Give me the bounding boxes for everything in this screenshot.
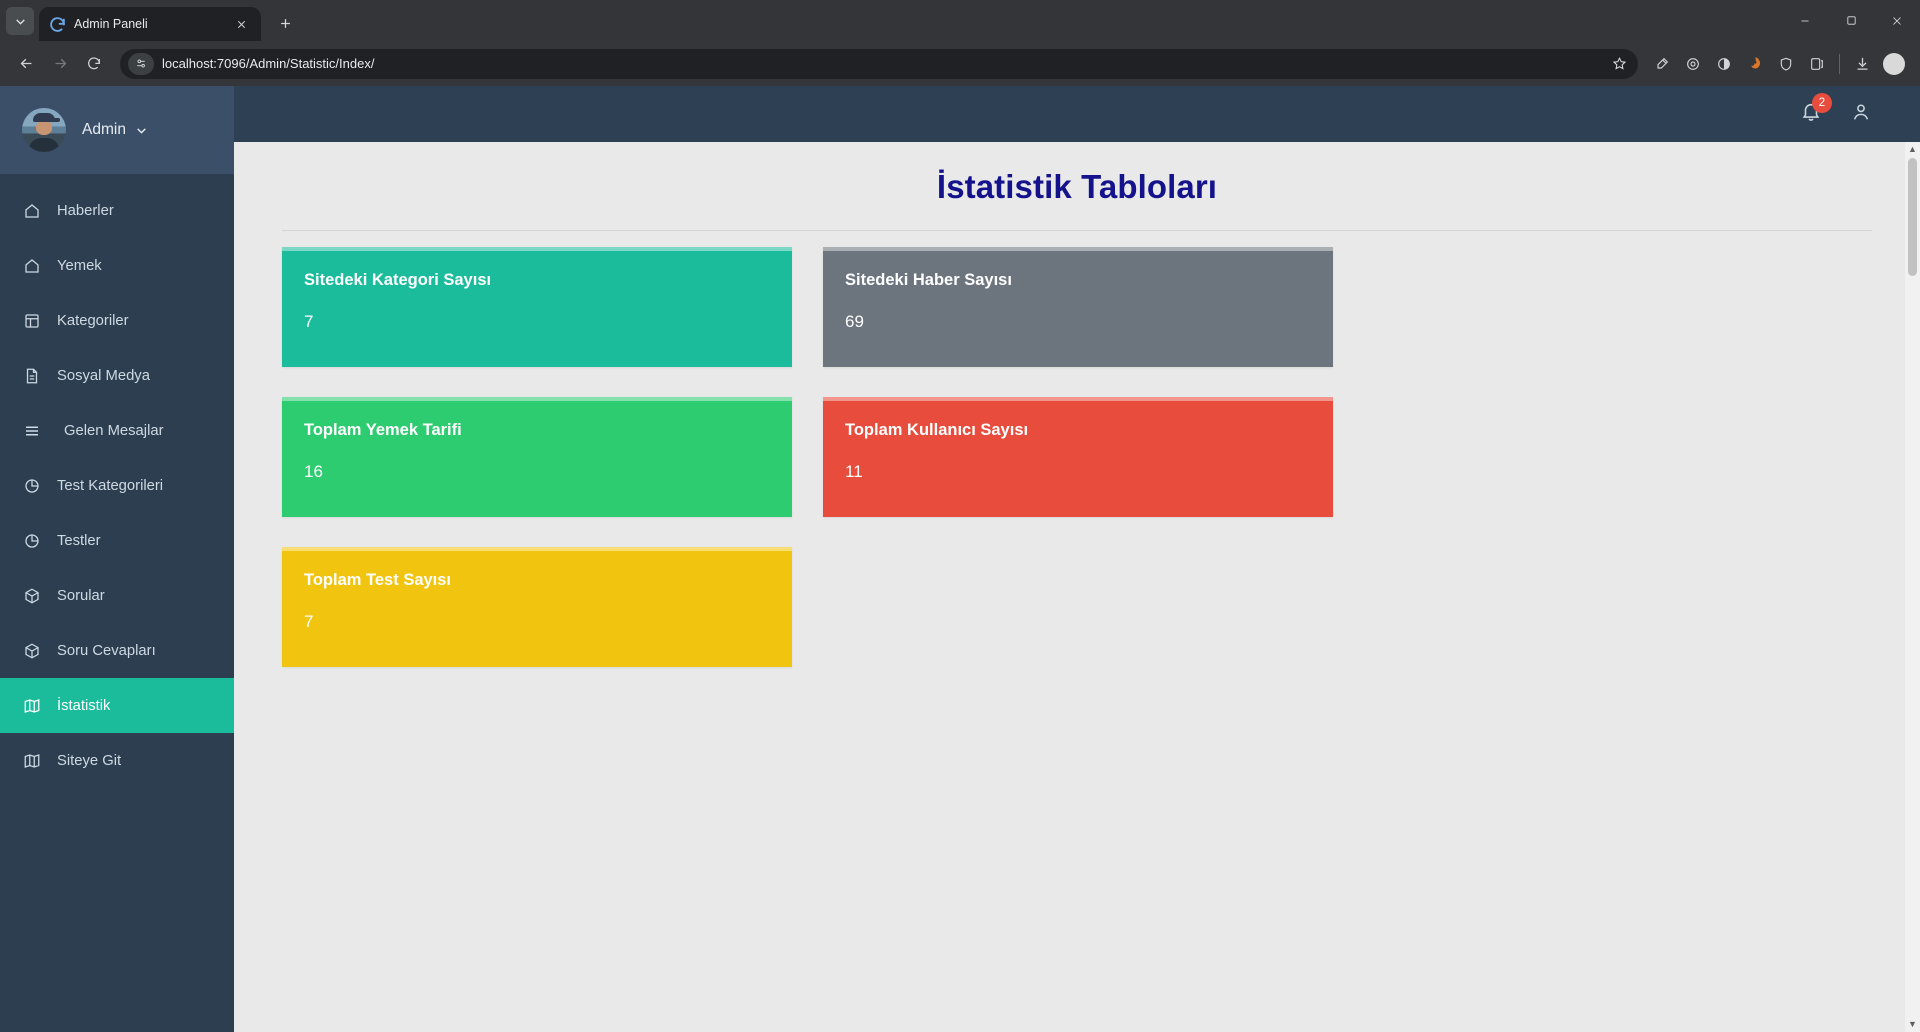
shield-icon[interactable] (1772, 50, 1800, 78)
page-viewport: 2 Admin (0, 86, 1920, 1032)
divider (282, 230, 1872, 231)
navbar-actions: 2 (1800, 101, 1920, 128)
plus-icon (278, 16, 293, 31)
notification-badge: 2 (1812, 93, 1832, 113)
sidebar-item-label: Soru Cevapları (57, 643, 156, 659)
extension-icons (1648, 50, 1831, 78)
forward-button[interactable] (44, 48, 76, 80)
stat-card-yemek-tarifi: Toplam Yemek Tarifi 16 (282, 397, 792, 517)
stat-card-value: 7 (304, 612, 770, 632)
file-text-icon (22, 366, 42, 386)
home-icon (22, 201, 42, 221)
sidebar-item-test-kategorileri[interactable]: Test Kategorileri (0, 458, 234, 513)
sidebar-item-haberler[interactable]: Haberler (0, 183, 234, 238)
notification-button[interactable]: 2 (1800, 101, 1824, 127)
sidebar-item-gelen-mesajlar[interactable]: Gelen Mesajlar (0, 403, 234, 458)
stat-card-value: 69 (845, 312, 1311, 332)
sidebar-item-istatistik[interactable]: İstatistik (0, 678, 234, 733)
stat-card-value: 16 (304, 462, 770, 482)
site-settings-icon[interactable] (128, 53, 154, 75)
sidebar: Admin Haberler Yemek (0, 86, 234, 1032)
box-icon (22, 586, 42, 606)
reload-button[interactable] (78, 48, 110, 80)
user-menu-button[interactable] (1850, 101, 1872, 128)
pie-chart-icon (22, 531, 42, 551)
profile-avatar-icon[interactable] (1878, 48, 1910, 80)
sidebar-item-testler[interactable]: Testler (0, 513, 234, 568)
stat-card-title: Toplam Kullanıcı Sayısı (845, 421, 1311, 440)
split-screen-icon[interactable] (1803, 50, 1831, 78)
target-icon[interactable] (1679, 50, 1707, 78)
stat-card-value: 7 (304, 312, 770, 332)
browser-toolbar: localhost:7096/Admin/Statistic/Index/ (0, 41, 1920, 86)
download-icon[interactable] (1848, 50, 1876, 78)
page-scrollbar[interactable]: ▲ ▼ (1905, 142, 1920, 1032)
stat-card-kategori-sayisi: Sitedeki Kategori Sayısı 7 (282, 247, 792, 367)
sidebar-item-label: Yemek (57, 258, 102, 274)
sidebar-item-label: Siteye Git (57, 753, 121, 769)
close-icon[interactable] (231, 14, 251, 34)
profile-name-label: Admin (82, 121, 126, 139)
box-icon (22, 641, 42, 661)
sidebar-profile[interactable]: Admin (0, 86, 234, 174)
stat-card-title: Toplam Yemek Tarifi (304, 421, 770, 440)
arrow-left-icon (18, 55, 35, 72)
new-tab-button[interactable] (271, 9, 299, 37)
puzzle-fox-icon[interactable] (1741, 50, 1769, 78)
tab-search-button[interactable] (6, 7, 34, 35)
minimize-icon[interactable] (1782, 0, 1828, 41)
sidebar-item-siteye-git[interactable]: Siteye Git (0, 733, 234, 788)
user-icon (1850, 101, 1872, 123)
stat-card-kullanici-sayisi: Toplam Kullanıcı Sayısı 11 (823, 397, 1333, 517)
layout-icon (22, 311, 42, 331)
toolbar-divider (1839, 54, 1840, 74)
sidebar-item-label: Kategoriler (57, 313, 129, 329)
statistic-cards: Sitedeki Kategori Sayısı 7 Sitedeki Habe… (282, 247, 1872, 667)
address-bar[interactable]: localhost:7096/Admin/Statistic/Index/ (120, 49, 1638, 79)
tab-strip: Admin Paneli (0, 0, 1920, 41)
home-icon (22, 256, 42, 276)
stat-card-title: Toplam Test Sayısı (304, 571, 770, 590)
url-text[interactable]: localhost:7096/Admin/Statistic/Index/ (162, 56, 1598, 71)
sidebar-item-label: Sosyal Medya (57, 368, 150, 384)
sidebar-item-label: Testler (57, 533, 101, 549)
window-controls (1782, 0, 1920, 41)
reload-icon (86, 56, 102, 72)
caret-up-icon[interactable]: ▲ (1908, 142, 1917, 157)
sidebar-item-label: Haberler (57, 203, 114, 219)
app-navbar: 2 (0, 86, 1920, 142)
maximize-icon[interactable] (1828, 0, 1874, 41)
caret-down-icon[interactable]: ▼ (1908, 1017, 1917, 1032)
sidebar-item-sorular[interactable]: Sorular (0, 568, 234, 623)
sidebar-item-yemek[interactable]: Yemek (0, 238, 234, 293)
tab-title: Admin Paneli (74, 17, 223, 31)
stat-card-haber-sayisi: Sitedeki Haber Sayısı 69 (823, 247, 1333, 367)
loading-spinner-icon (49, 16, 66, 33)
chevron-down-icon (135, 124, 148, 137)
stat-card-title: Sitedeki Kategori Sayısı (304, 271, 770, 290)
sidebar-item-kategoriler[interactable]: Kategoriler (0, 293, 234, 348)
menu-lines-icon (22, 421, 42, 441)
sidebar-item-label: Gelen Mesajlar (64, 423, 164, 439)
avatar (1883, 53, 1905, 75)
star-icon[interactable] (1606, 51, 1632, 77)
sidebar-item-label: Test Kategorileri (57, 478, 163, 494)
sidebar-item-sosyal-medya[interactable]: Sosyal Medya (0, 348, 234, 403)
map-icon (22, 751, 42, 771)
user-photo-avatar (22, 108, 66, 152)
contrast-icon[interactable] (1710, 50, 1738, 78)
arrow-right-icon (52, 55, 69, 72)
browser-window: Admin Paneli (0, 0, 1920, 1032)
sidebar-menu: Haberler Yemek Kategoriler (0, 174, 234, 788)
stat-card-test-sayisi: Toplam Test Sayısı 7 (282, 547, 792, 667)
close-icon[interactable] (1874, 0, 1920, 41)
map-icon (22, 696, 42, 716)
eyedropper-icon[interactable] (1648, 50, 1676, 78)
main-content: İstatistik Tabloları Sitedeki Kategori S… (234, 142, 1920, 1032)
profile-menu-toggle[interactable]: Admin (82, 121, 148, 139)
stat-card-value: 11 (845, 462, 1311, 482)
page-title: İstatistik Tabloları (282, 142, 1872, 230)
sidebar-item-soru-cevaplari[interactable]: Soru Cevapları (0, 623, 234, 678)
back-button[interactable] (10, 48, 42, 80)
browser-tab[interactable]: Admin Paneli (39, 7, 261, 41)
sidebar-item-label: Sorular (57, 588, 105, 604)
chevron-down-icon (14, 15, 27, 28)
scrollbar-thumb[interactable] (1908, 158, 1917, 276)
pie-chart-icon (22, 476, 42, 496)
stat-card-title: Sitedeki Haber Sayısı (845, 271, 1311, 290)
sidebar-item-label: İstatistik (57, 698, 110, 714)
